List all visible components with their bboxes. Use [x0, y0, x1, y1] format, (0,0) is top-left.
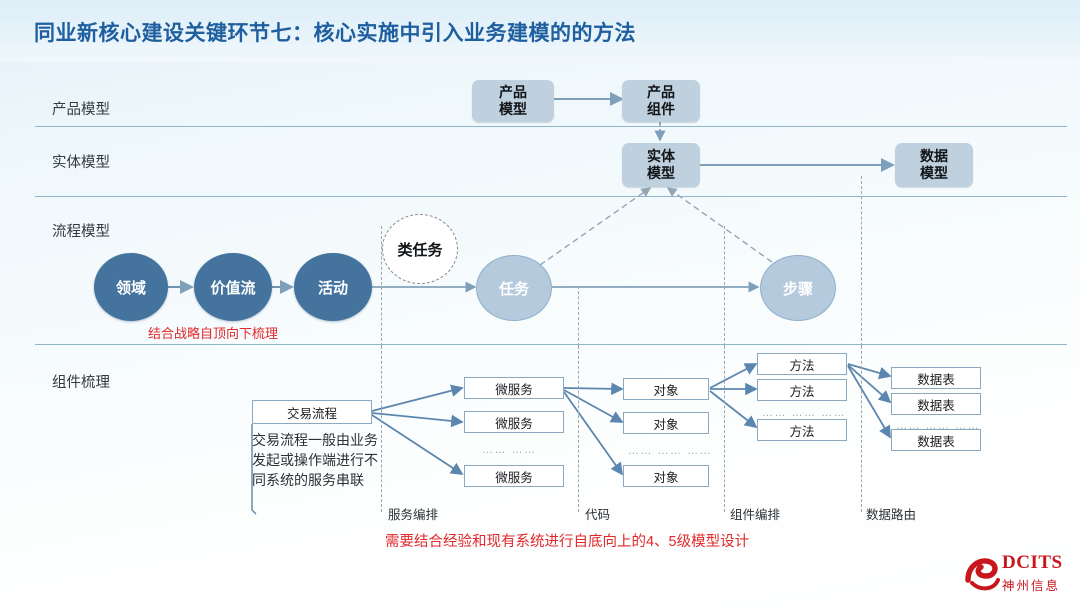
column-guide-4: [861, 176, 862, 346]
circle-value-stream[interactable]: 价值流: [194, 253, 272, 321]
box-object[interactable]: 对象: [623, 378, 709, 400]
box-method[interactable]: 方法: [757, 419, 847, 441]
logo-text-block: DCITS 神州信息: [1002, 552, 1063, 594]
column-separator-3: [724, 346, 725, 512]
box-line: 模型: [499, 101, 527, 118]
logo-name: DCITS: [1002, 552, 1063, 574]
box-microservice[interactable]: 微服务: [464, 465, 564, 487]
box-product-model[interactable]: 产品 模型: [472, 80, 554, 122]
box-data-table[interactable]: 数据表: [891, 429, 981, 451]
ellipsis-object: …… …… ……: [628, 445, 712, 457]
box-line: 数据: [920, 148, 948, 165]
note-top-down: 结合战略自顶向下梳理: [148, 323, 278, 342]
column-caption-code: 代码: [585, 504, 610, 523]
box-line: 实体: [647, 148, 675, 165]
box-method[interactable]: 方法: [757, 379, 847, 401]
column-guide-3: [724, 226, 725, 346]
box-object[interactable]: 对象: [623, 412, 709, 434]
box-line: 组件: [647, 101, 675, 118]
column-caption-component-orchestration: 组件编排: [730, 504, 780, 523]
logo-subtitle: 神州信息: [1002, 575, 1063, 594]
circle-activity[interactable]: 活动: [294, 253, 372, 321]
box-transaction-flow[interactable]: 交易流程: [252, 400, 372, 424]
box-line: 模型: [647, 165, 675, 182]
column-separator-4: [861, 346, 862, 512]
column-guide-2: [578, 286, 579, 346]
column-caption-data-routing: 数据路由: [866, 504, 916, 523]
box-data-model[interactable]: 数据 模型: [895, 143, 973, 187]
transaction-flow-description: 交易流程一般由业务发起或操作端进行不同系统的服务串联: [252, 430, 382, 490]
column-caption-service-orchestration: 服务编排: [388, 504, 438, 523]
box-line: 模型: [920, 165, 948, 182]
circle-task[interactable]: 任务: [476, 255, 552, 321]
slide-canvas: 同业新核心建设关键环节七：核心实施中引入业务建模的的方法 产品模型 实体模型 流…: [0, 0, 1080, 608]
box-data-table[interactable]: 数据表: [891, 367, 981, 389]
circle-domain[interactable]: 领域: [94, 253, 168, 321]
box-line: 产品: [647, 84, 675, 101]
box-product-component[interactable]: 产品 组件: [622, 80, 700, 122]
column-separator-2: [578, 346, 579, 512]
note-bottom-up: 需要结合经验和现有系统进行自底向上的4、5级模型设计: [385, 530, 749, 551]
box-microservice[interactable]: 微服务: [464, 411, 564, 433]
ellipsis-microservice: …… ……: [482, 444, 537, 456]
column-separator-1: [381, 346, 382, 512]
box-line: 产品: [499, 84, 527, 101]
box-microservice[interactable]: 微服务: [464, 377, 564, 399]
box-method[interactable]: 方法: [757, 353, 847, 375]
column-guide-1: [381, 226, 382, 346]
box-entity-model[interactable]: 实体 模型: [622, 143, 700, 187]
box-object[interactable]: 对象: [623, 465, 709, 487]
box-data-table[interactable]: 数据表: [891, 393, 981, 415]
circle-step[interactable]: 步骤: [760, 255, 836, 321]
circle-task-class[interactable]: 类任务: [382, 214, 458, 284]
ellipsis-method: …… …… ……: [762, 407, 846, 419]
